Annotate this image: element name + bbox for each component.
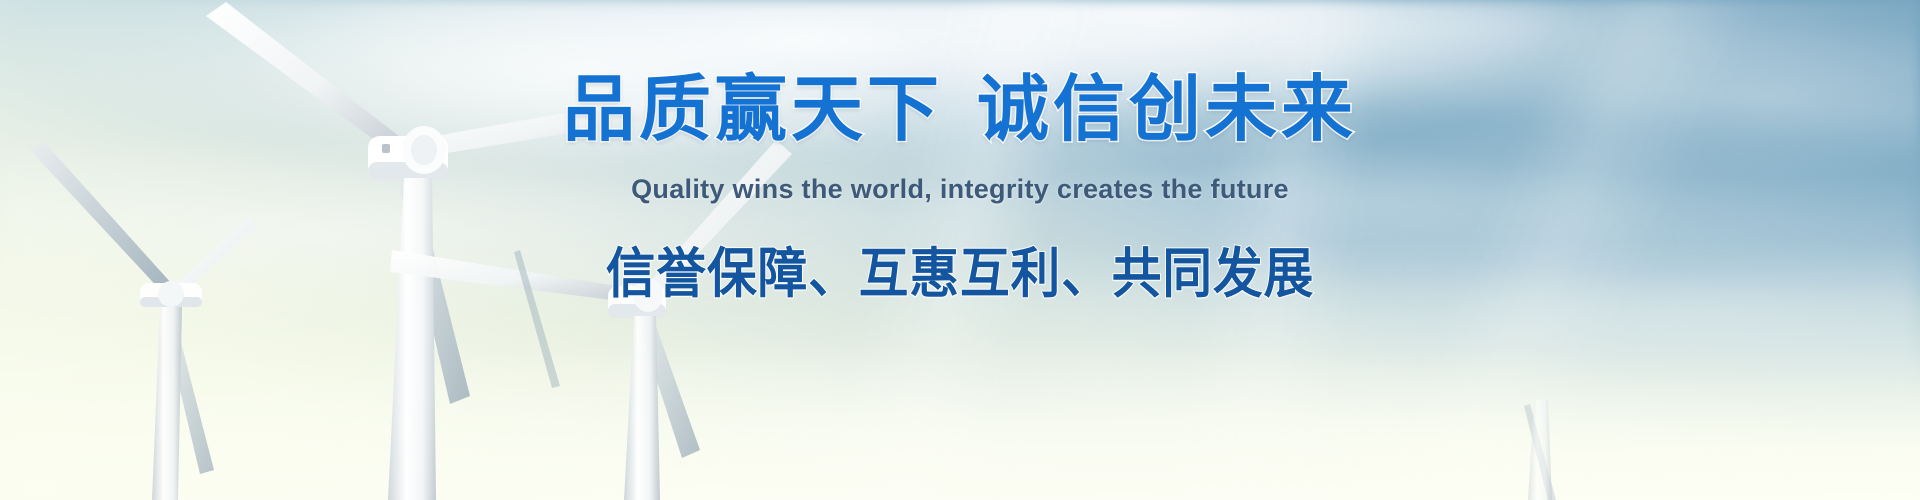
horizon-haze <box>0 0 1920 500</box>
turbine-center-right <box>390 140 792 500</box>
cloud-layer-lower <box>0 0 1920 500</box>
hero-banner: 品质赢天下诚信创未来 Quality wins the world, integ… <box>0 0 1920 500</box>
distant-tower <box>1528 400 1552 500</box>
cirrus-streaks <box>0 0 1920 500</box>
headline-chinese: 品质赢天下诚信创未来 <box>0 74 1920 146</box>
cloud-layer-upper <box>0 0 1920 500</box>
tagline-chinese: 信誉保障、互惠互利、共同发展 <box>77 247 1843 301</box>
subtitle-english: Quality wins the world, integrity create… <box>0 176 1920 203</box>
headline-part-2: 诚信创未来 <box>977 70 1357 150</box>
turbine-left <box>30 142 258 500</box>
left-haze <box>0 0 1920 500</box>
turbine-center-large <box>206 2 664 500</box>
banner-copy: 品质赢天下诚信创未来 Quality wins the world, integ… <box>0 0 1920 500</box>
wind-turbine-scene <box>0 0 1920 500</box>
distant-blade-streaks <box>514 250 1556 500</box>
headline-part-1: 品质赢天下 <box>563 70 943 150</box>
